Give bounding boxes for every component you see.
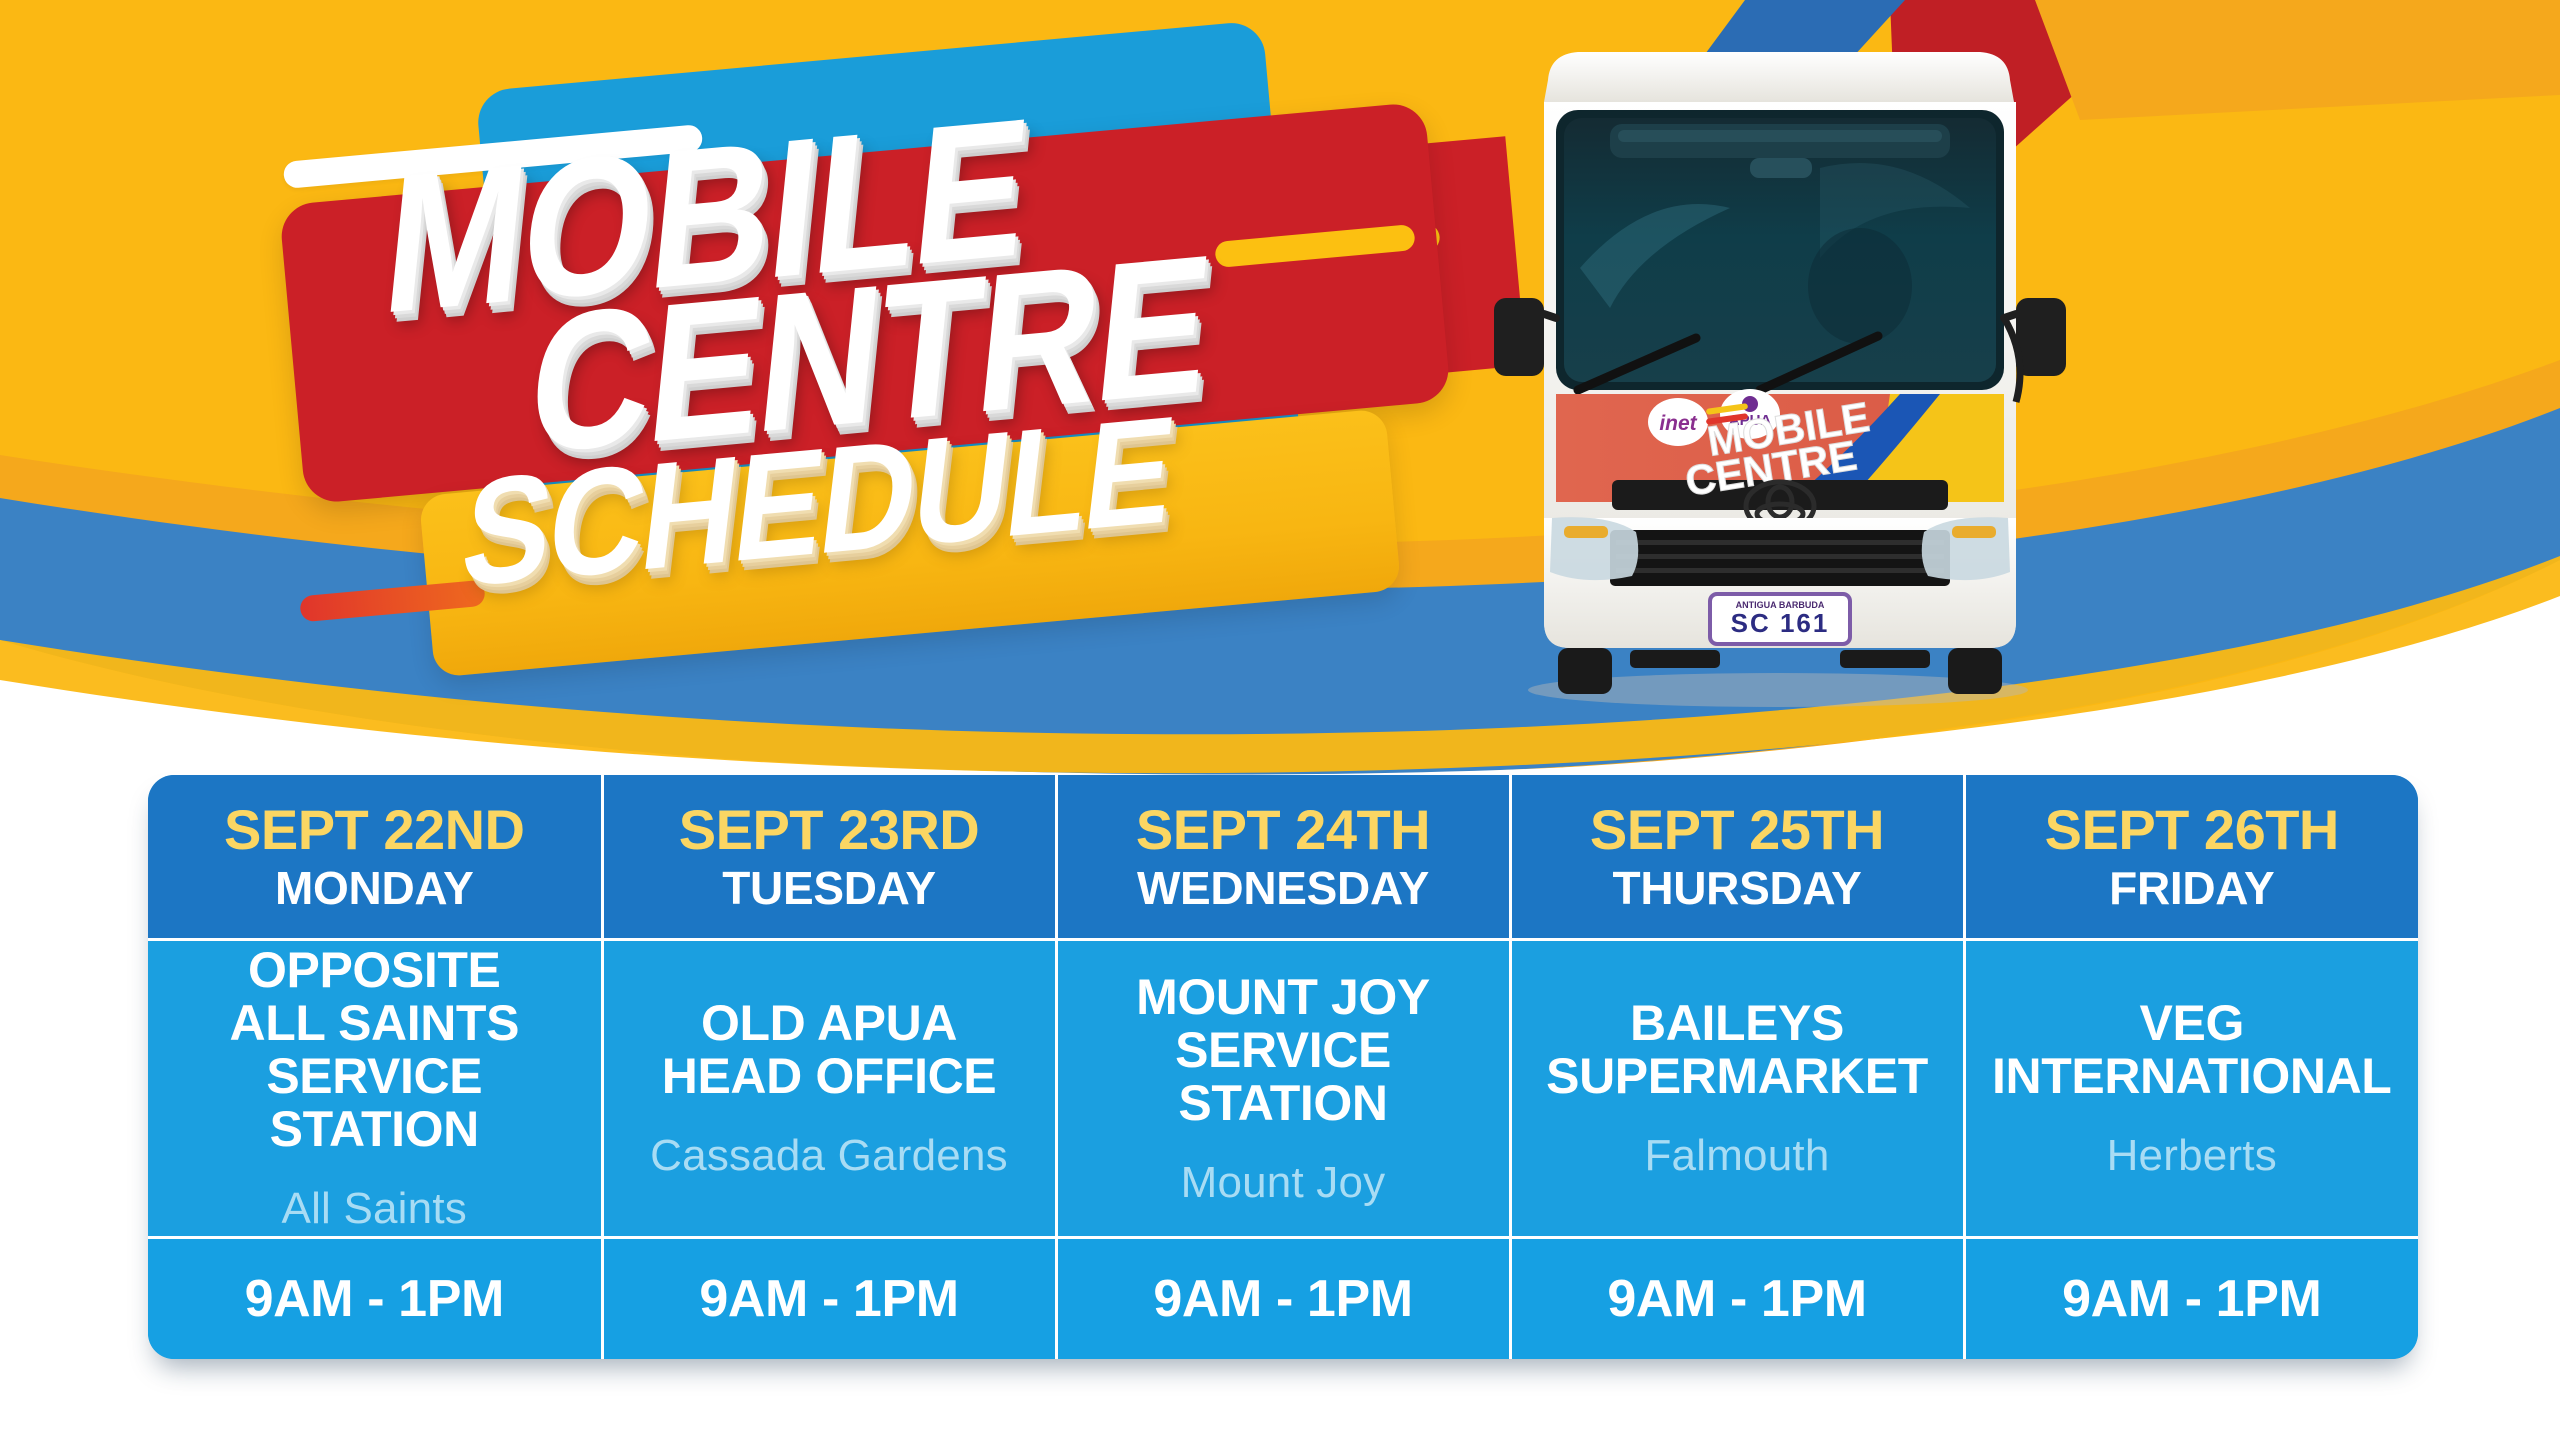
location-area-0: All Saints xyxy=(148,1186,601,1232)
location-area-1: Cassada Gardens xyxy=(604,1133,1055,1179)
header-cell-0[interactable]: SEPT 22ND MONDAY xyxy=(148,775,602,940)
header-date-2: SEPT 24TH xyxy=(1058,801,1509,858)
license-plate: ANTIGUA BARBUDA SC 161 xyxy=(1710,594,1850,644)
time-text-2: 9AM - 1PM xyxy=(1153,1270,1412,1328)
location-area-4: Herberts xyxy=(1966,1133,2419,1179)
poster-canvas: MOBILE CENTRE SCHEDULE xyxy=(0,0,2560,1440)
mobile-centre-bus-image: inet APUA MOBILE CENTRE xyxy=(1460,18,2100,738)
time-cell-1[interactable]: 9AM - 1PM xyxy=(602,1238,1056,1360)
header-day-2: WEDNESDAY xyxy=(1058,864,1509,912)
location-name-4: VEG INTERNATIONAL xyxy=(1966,997,2419,1103)
location-cell-0[interactable]: OPPOSITE ALL SAINTS SERVICE STATION All … xyxy=(148,940,602,1238)
time-text-4: 9AM - 1PM xyxy=(2062,1270,2321,1328)
hero-title-block: MOBILE CENTRE SCHEDULE xyxy=(0,0,1480,790)
table-header-row: SEPT 22ND MONDAY SEPT 23RD TUESDAY SEPT … xyxy=(148,775,2418,940)
header-day-0: MONDAY xyxy=(148,864,601,912)
schedule-table: SEPT 22ND MONDAY SEPT 23RD TUESDAY SEPT … xyxy=(148,775,2418,1359)
header-cell-1[interactable]: SEPT 23RD TUESDAY xyxy=(602,775,1056,940)
time-cell-0[interactable]: 9AM - 1PM xyxy=(148,1238,602,1360)
header-cell-3[interactable]: SEPT 25TH THURSDAY xyxy=(1510,775,1964,940)
table-location-row: OPPOSITE ALL SAINTS SERVICE STATION All … xyxy=(148,940,2418,1238)
time-text-0: 9AM - 1PM xyxy=(245,1270,504,1328)
time-text-3: 9AM - 1PM xyxy=(1607,1270,1866,1328)
header-day-4: FRIDAY xyxy=(1966,864,2419,912)
header-date-4: SEPT 26TH xyxy=(1966,801,2419,858)
time-cell-2[interactable]: 9AM - 1PM xyxy=(1056,1238,1510,1360)
bus-svg: inet APUA MOBILE CENTRE xyxy=(1460,18,2100,738)
header-date-1: SEPT 23RD xyxy=(604,801,1055,858)
header-cell-4[interactable]: SEPT 26TH FRIDAY xyxy=(1964,775,2418,940)
location-name-2: MOUNT JOY SERVICE STATION xyxy=(1058,971,1509,1130)
header-day-3: THURSDAY xyxy=(1512,864,1963,912)
table-time-row: 9AM - 1PM 9AM - 1PM 9AM - 1PM 9AM - 1PM … xyxy=(148,1238,2418,1360)
header-date-3: SEPT 25TH xyxy=(1512,801,1963,858)
location-name-3: BAILEYS SUPERMARKET xyxy=(1512,997,1963,1103)
location-name-0: OPPOSITE ALL SAINTS SERVICE STATION xyxy=(148,944,601,1156)
schedule-table-container: SEPT 22ND MONDAY SEPT 23RD TUESDAY SEPT … xyxy=(148,775,2418,1359)
time-cell-3[interactable]: 9AM - 1PM xyxy=(1510,1238,1964,1360)
location-cell-2[interactable]: MOUNT JOY SERVICE STATION Mount Joy xyxy=(1056,940,1510,1238)
time-cell-4[interactable]: 9AM - 1PM xyxy=(1964,1238,2418,1360)
location-area-3: Falmouth xyxy=(1512,1133,1963,1179)
location-cell-1[interactable]: OLD APUA HEAD OFFICE Cassada Gardens xyxy=(602,940,1056,1238)
location-name-1: OLD APUA HEAD OFFICE xyxy=(604,997,1055,1103)
location-area-2: Mount Joy xyxy=(1058,1160,1509,1206)
bus-inet-logo-text: inet xyxy=(1659,412,1697,435)
plate-number-text: SC 161 xyxy=(1731,608,1830,638)
header-date-0: SEPT 22ND xyxy=(148,801,601,858)
location-cell-3[interactable]: BAILEYS SUPERMARKET Falmouth xyxy=(1510,940,1964,1238)
header-cell-2[interactable]: SEPT 24TH WEDNESDAY xyxy=(1056,775,1510,940)
header-day-1: TUESDAY xyxy=(604,864,1055,912)
location-cell-4[interactable]: VEG INTERNATIONAL Herberts xyxy=(1964,940,2418,1238)
time-text-1: 9AM - 1PM xyxy=(699,1270,958,1328)
